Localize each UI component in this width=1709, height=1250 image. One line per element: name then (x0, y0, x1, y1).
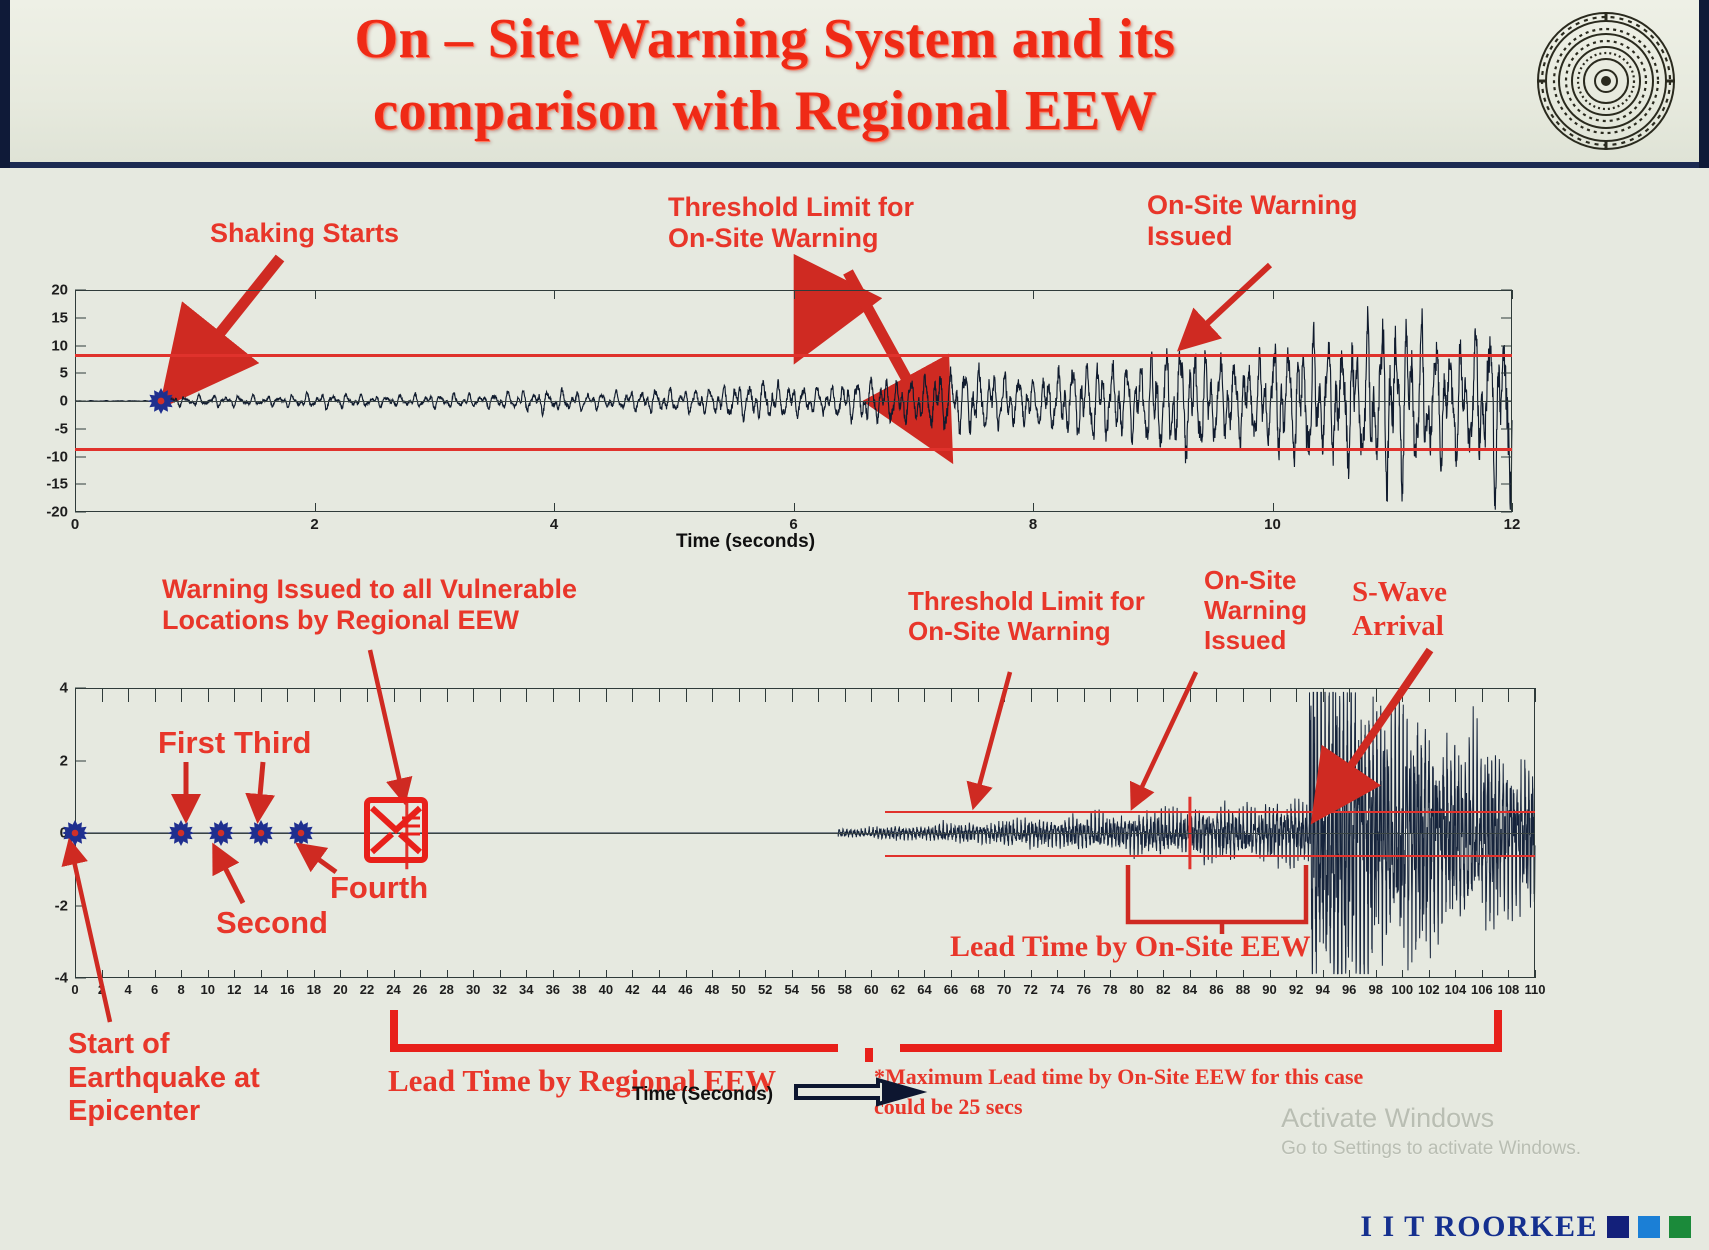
x-tick (155, 970, 156, 978)
x-tick (420, 970, 421, 978)
event-marker-second (208, 820, 234, 846)
page-title: On – Site Warning System and its compari… (150, 4, 1380, 147)
x-tick (898, 688, 899, 702)
x-tick-label: 20 (333, 982, 347, 997)
x-tick (1033, 503, 1034, 512)
x-tick-label: 44 (652, 982, 666, 997)
x-tick-label: 74 (1050, 982, 1064, 997)
y-tick-label: -15 (46, 476, 68, 493)
x-tick (234, 970, 235, 978)
x-tick-label: 34 (519, 982, 533, 997)
x-tick (1402, 970, 1403, 978)
x-tick (553, 970, 554, 978)
annotation-start-of-earthquake: Start of Earthquake at Epicenter (68, 1028, 260, 1129)
x-tick (765, 688, 766, 702)
annotation-top-threshold-limit: Threshold Limit for On-Site Warning (668, 192, 914, 255)
y-tick (75, 512, 86, 513)
annotation-bottom-threshold-limit: Threshold Limit for On-Site Warning (908, 586, 1145, 646)
x-tick-label: 38 (572, 982, 586, 997)
annotation-first: First (158, 725, 225, 761)
x-tick (951, 970, 952, 978)
x-tick-label: 100 (1391, 982, 1413, 997)
x-tick (951, 688, 952, 702)
x-tick-label: 36 (546, 982, 560, 997)
x-tick (75, 290, 76, 299)
x-tick-label: 62 (891, 982, 905, 997)
brand-swatch-2 (1638, 1216, 1660, 1238)
annotation-lead-time-onsite: Lead Time by On-Site EEW (950, 930, 1311, 965)
y-tick-label: -2 (55, 897, 68, 914)
x-tick-label: 22 (360, 982, 374, 997)
x-tick (367, 970, 368, 978)
top-threshold-upper (75, 354, 1512, 357)
x-tick (871, 970, 872, 978)
x-tick (739, 970, 740, 978)
x-tick (1137, 688, 1138, 702)
x-tick (632, 970, 633, 978)
x-tick (314, 970, 315, 978)
footer-brand-text: I I T ROORKEE (1360, 1210, 1598, 1244)
x-tick-label: 82 (1156, 982, 1170, 997)
x-tick-label: 60 (864, 982, 878, 997)
x-tick (1273, 290, 1274, 299)
x-tick (606, 970, 607, 978)
x-tick (500, 970, 501, 978)
x-tick (340, 970, 341, 978)
y-tick-label: -4 (55, 970, 68, 987)
x-tick (1429, 970, 1430, 978)
x-tick-label: 54 (784, 982, 798, 997)
x-tick (1508, 970, 1509, 978)
x-tick (686, 970, 687, 978)
x-tick (1216, 970, 1217, 978)
annotation-shaking-starts: Shaking Starts (210, 218, 399, 249)
slide-header: On – Site Warning System and its compari… (0, 0, 1709, 168)
y-tick-label: -5 (55, 420, 68, 437)
x-tick (659, 688, 660, 702)
x-tick (261, 970, 262, 978)
x-tick-label: 90 (1262, 982, 1276, 997)
x-tick-label: 98 (1368, 982, 1382, 997)
windows-activation-watermark: Activate Windows Go to Settings to activ… (1281, 1100, 1581, 1162)
x-tick-label: 50 (731, 982, 745, 997)
x-tick (553, 688, 554, 702)
x-tick (394, 970, 395, 978)
x-tick (898, 970, 899, 978)
y-tick (75, 290, 86, 291)
y-tick (75, 345, 86, 346)
x-tick-label: 18 (307, 982, 321, 997)
x-tick (818, 688, 819, 702)
x-tick (794, 290, 795, 299)
x-tick (712, 688, 713, 702)
x-tick (181, 970, 182, 978)
x-tick-label: 88 (1236, 982, 1250, 997)
header-right-edge (1699, 0, 1709, 168)
event-marker-start-of-earthquake (62, 820, 88, 846)
x-tick (1190, 688, 1191, 702)
x-tick-label: 72 (1023, 982, 1037, 997)
x-tick-label: 70 (997, 982, 1011, 997)
x-tick-label: 4 (124, 982, 131, 997)
y-tick (75, 760, 86, 761)
x-tick (208, 970, 209, 978)
x-tick-label: 30 (466, 982, 480, 997)
x-tick (686, 688, 687, 702)
x-tick-label: 32 (492, 982, 506, 997)
x-tick (315, 503, 316, 512)
x-tick (1482, 970, 1483, 978)
x-tick-label: 2 (310, 516, 318, 533)
x-tick (1376, 970, 1377, 978)
y-tick (75, 978, 86, 979)
x-tick-label: 68 (970, 982, 984, 997)
x-tick (1031, 970, 1032, 978)
x-tick (554, 503, 555, 512)
x-tick (1004, 970, 1005, 978)
y-tick (1501, 290, 1512, 291)
x-tick (128, 970, 129, 978)
x-tick-label: 96 (1342, 982, 1356, 997)
x-tick (1057, 688, 1058, 702)
bottom-chart-xaxis-title: Time (Seconds) (632, 1084, 773, 1106)
x-tick-label: 26 (413, 982, 427, 997)
bottom-threshold-lower (885, 855, 1535, 857)
x-tick-label: 28 (439, 982, 453, 997)
x-tick-label: 10 (1264, 516, 1281, 533)
x-tick (1033, 290, 1034, 299)
x-tick-label: 12 (227, 982, 241, 997)
x-tick (75, 688, 76, 702)
x-tick (632, 688, 633, 702)
annotation-top-warning-issued: On-Site Warning Issued (1147, 190, 1358, 253)
x-tick-label: 12 (1504, 516, 1521, 533)
x-tick (924, 970, 925, 978)
x-tick-label: 102 (1418, 982, 1440, 997)
x-tick (526, 970, 527, 978)
x-tick-label: 86 (1209, 982, 1223, 997)
x-tick (261, 688, 262, 702)
x-tick (792, 688, 793, 702)
y-tick (75, 905, 86, 906)
x-tick (1190, 970, 1191, 978)
y-tick (1501, 456, 1512, 457)
x-tick (314, 688, 315, 702)
x-tick (1455, 970, 1456, 978)
x-tick (1243, 688, 1244, 702)
brand-swatch-3 (1669, 1216, 1691, 1238)
x-tick (1057, 970, 1058, 978)
x-tick-label: 76 (1076, 982, 1090, 997)
x-tick (871, 688, 872, 702)
x-tick (102, 970, 103, 978)
x-tick (1455, 688, 1456, 702)
y-tick-label: 15 (51, 309, 68, 326)
x-tick (1110, 688, 1111, 702)
x-tick-label: 78 (1103, 982, 1117, 997)
x-tick (818, 970, 819, 978)
x-tick (315, 290, 316, 299)
x-tick (287, 970, 288, 978)
y-tick-label: 4 (60, 680, 68, 697)
x-tick (1031, 688, 1032, 702)
x-tick-label: 16 (280, 982, 294, 997)
x-tick (845, 970, 846, 978)
x-tick (473, 970, 474, 978)
y-tick-label: 0 (60, 393, 68, 410)
y-tick-label: 10 (51, 337, 68, 354)
x-tick (1402, 688, 1403, 702)
x-tick (340, 688, 341, 702)
x-tick (208, 688, 209, 702)
x-tick (1508, 688, 1509, 702)
x-tick-label: 48 (705, 982, 719, 997)
x-tick (739, 688, 740, 702)
x-tick-label: 92 (1289, 982, 1303, 997)
x-tick (526, 688, 527, 702)
x-tick-label: 10 (200, 982, 214, 997)
x-tick (1323, 688, 1324, 702)
bottom-threshold-upper (885, 811, 1535, 813)
x-tick (1296, 688, 1297, 702)
x-tick (287, 688, 288, 702)
header-left-edge (0, 0, 10, 168)
watermark-line1: Activate Windows (1281, 1100, 1581, 1136)
x-tick-label: 94 (1315, 982, 1329, 997)
x-tick (367, 688, 368, 702)
y-tick (1501, 428, 1512, 429)
x-tick (447, 688, 448, 702)
y-tick (1501, 317, 1512, 318)
iit-roorkee-emblem-icon (1535, 10, 1677, 152)
x-tick (1216, 688, 1217, 702)
x-tick-label: 6 (151, 982, 158, 997)
x-tick-label: 42 (625, 982, 639, 997)
x-tick (420, 688, 421, 702)
top-zero-line (75, 401, 1512, 402)
x-tick-label: 24 (386, 982, 400, 997)
x-tick (155, 688, 156, 702)
x-tick (1110, 970, 1111, 978)
shaking-start-marker (148, 388, 174, 414)
annotation-s-wave-arrival: S-Wave Arrival (1352, 576, 1447, 643)
y-tick (1501, 484, 1512, 485)
x-tick (1323, 970, 1324, 978)
y-tick (75, 317, 86, 318)
top-threshold-lower (75, 448, 1512, 451)
x-tick (579, 970, 580, 978)
annotation-onsite-warning-issued: On-Site Warning Issued (1204, 565, 1307, 655)
x-tick (792, 970, 793, 978)
x-tick (181, 688, 182, 702)
x-tick (1004, 688, 1005, 702)
x-tick (978, 970, 979, 978)
x-tick (924, 688, 925, 702)
annotation-fourth: Fourth (330, 870, 428, 906)
x-tick-label: 110 (1525, 982, 1546, 997)
brand-swatch-1 (1607, 1216, 1629, 1238)
x-tick-label: 104 (1445, 982, 1467, 997)
x-tick (75, 970, 76, 978)
x-tick-label: 80 (1130, 982, 1144, 997)
x-tick (606, 688, 607, 702)
x-tick (1084, 688, 1085, 702)
x-tick (1512, 503, 1513, 512)
x-tick (659, 970, 660, 978)
x-tick (1535, 688, 1536, 702)
x-tick (1512, 290, 1513, 299)
x-tick (579, 688, 580, 702)
x-tick (845, 688, 846, 702)
x-tick-label: 58 (838, 982, 852, 997)
page-title-line2: comparison with Regional EEW (150, 76, 1380, 148)
y-tick (75, 484, 86, 485)
event-marker-fourth (288, 820, 314, 846)
x-tick-label: 64 (917, 982, 931, 997)
x-tick-label: 0 (71, 516, 79, 533)
slide-canvas: On – Site Warning System and its compari… (0, 0, 1709, 1250)
x-tick-label: 8 (1029, 516, 1037, 533)
x-tick (447, 970, 448, 978)
x-tick (1270, 688, 1271, 702)
x-tick (1535, 970, 1536, 978)
y-tick (1501, 373, 1512, 374)
x-tick (128, 688, 129, 702)
annotation-third: Third (234, 725, 312, 761)
x-tick (1084, 970, 1085, 978)
y-tick (75, 456, 86, 457)
y-tick (1501, 512, 1512, 513)
x-tick (554, 290, 555, 299)
x-tick (794, 503, 795, 512)
x-tick-label: 56 (811, 982, 825, 997)
x-tick (473, 688, 474, 702)
chart-top-accelerogram: 20151050-5-10-15-20 024681012 (75, 290, 1512, 512)
x-tick-label: 106 (1471, 982, 1493, 997)
top-chart-xaxis-title: Time (seconds) (676, 531, 815, 553)
x-tick-label: 2 (98, 982, 105, 997)
y-tick-label: 2 (60, 752, 68, 769)
x-tick (1270, 970, 1271, 978)
y-tick-label: 20 (51, 282, 68, 299)
x-tick (1273, 503, 1274, 512)
y-tick-label: 5 (60, 365, 68, 382)
watermark-line2: Go to Settings to activate Windows. (1281, 1136, 1581, 1162)
x-tick-label: 0 (71, 982, 78, 997)
x-tick-label: 4 (550, 516, 558, 533)
x-tick (1376, 688, 1377, 702)
x-tick-label: 52 (758, 982, 772, 997)
x-tick-label: 14 (254, 982, 268, 997)
y-tick-label: -10 (46, 448, 68, 465)
y-tick-label: -20 (46, 504, 68, 521)
x-tick-label: 40 (599, 982, 613, 997)
x-tick (500, 688, 501, 702)
y-tick (1501, 345, 1512, 346)
y-tick (75, 373, 86, 374)
x-tick (102, 688, 103, 702)
y-tick (75, 428, 86, 429)
annotation-second: Second (216, 905, 328, 941)
x-tick (1349, 970, 1350, 978)
y-tick (75, 688, 86, 689)
x-tick (1163, 688, 1164, 702)
event-marker-first (168, 820, 194, 846)
x-tick (765, 970, 766, 978)
x-tick (712, 970, 713, 978)
x-tick-label: 108 (1498, 982, 1520, 997)
x-tick (394, 688, 395, 702)
x-tick (1163, 970, 1164, 978)
x-tick (1429, 688, 1430, 702)
x-tick (978, 688, 979, 702)
annotation-regional-warning: Warning Issued to all Vulnerable Locatio… (162, 574, 577, 637)
x-tick-label: 84 (1183, 982, 1197, 997)
x-tick-label: 8 (178, 982, 185, 997)
x-tick-label: 46 (678, 982, 692, 997)
event-marker-third (248, 820, 274, 846)
page-title-line1: On – Site Warning System and its (150, 4, 1380, 76)
x-tick (1296, 970, 1297, 978)
iit-roorkee-footer: I I T ROORKEE (1360, 1210, 1691, 1244)
x-tick (75, 503, 76, 512)
x-tick (1137, 970, 1138, 978)
x-tick (1349, 688, 1350, 702)
x-tick-label: 66 (944, 982, 958, 997)
x-tick (1482, 688, 1483, 702)
x-tick (1243, 970, 1244, 978)
x-tick (234, 688, 235, 702)
